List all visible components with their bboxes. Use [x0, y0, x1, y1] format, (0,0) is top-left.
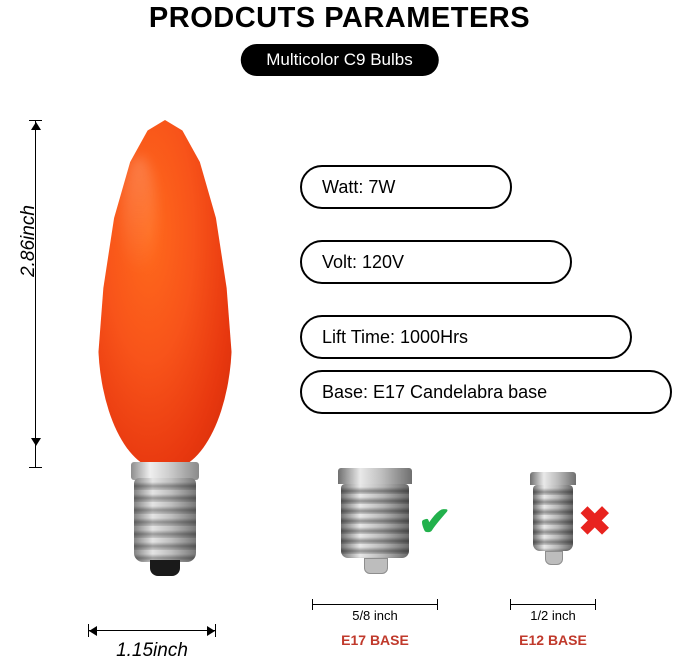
bulb-base-threads — [134, 478, 196, 562]
width-arrow-left-icon — [89, 626, 97, 636]
page-title: PRODCUTS PARAMETERS — [0, 2, 679, 35]
e17-base-name: E17 BASE — [300, 632, 450, 648]
height-arrow-top-icon — [31, 122, 41, 130]
bulb-illustration — [70, 110, 260, 630]
e12-size-label: 1/2 inch — [478, 608, 628, 623]
spec-watt: Watt: 7W — [300, 165, 512, 209]
e12-size-line — [510, 604, 596, 605]
subtitle-badge: Multicolor C9 Bulbs — [240, 44, 438, 76]
e12-base-name: E12 BASE — [478, 632, 628, 648]
width-arrow-right-icon — [207, 626, 215, 636]
width-dimension-label: 1.15inch — [88, 640, 216, 662]
e17-collar — [338, 468, 412, 484]
bulb-glass-icon — [98, 120, 232, 470]
e17-threads — [341, 484, 409, 558]
e17-tip — [364, 558, 388, 574]
spec-life-time: Lift Time: 1000Hrs — [300, 315, 632, 359]
e17-size-label: 5/8 inch — [300, 608, 450, 623]
e12-threads — [533, 485, 573, 551]
spec-base: Base: E17 Candelabra base — [300, 370, 672, 414]
height-dimension-label: 2.86inch — [18, 186, 40, 296]
cross-icon: ✖ — [578, 502, 612, 542]
width-dimension-line — [88, 630, 216, 631]
check-icon: ✔ — [418, 502, 452, 542]
e12-collar — [530, 472, 576, 485]
spec-volt: Volt: 120V — [300, 240, 572, 284]
bulb-base-tip — [150, 560, 180, 576]
height-arrow-bottom-icon — [31, 438, 41, 446]
e17-size-line — [312, 604, 438, 605]
e12-tip — [545, 551, 563, 565]
bulb-highlight — [122, 156, 156, 276]
